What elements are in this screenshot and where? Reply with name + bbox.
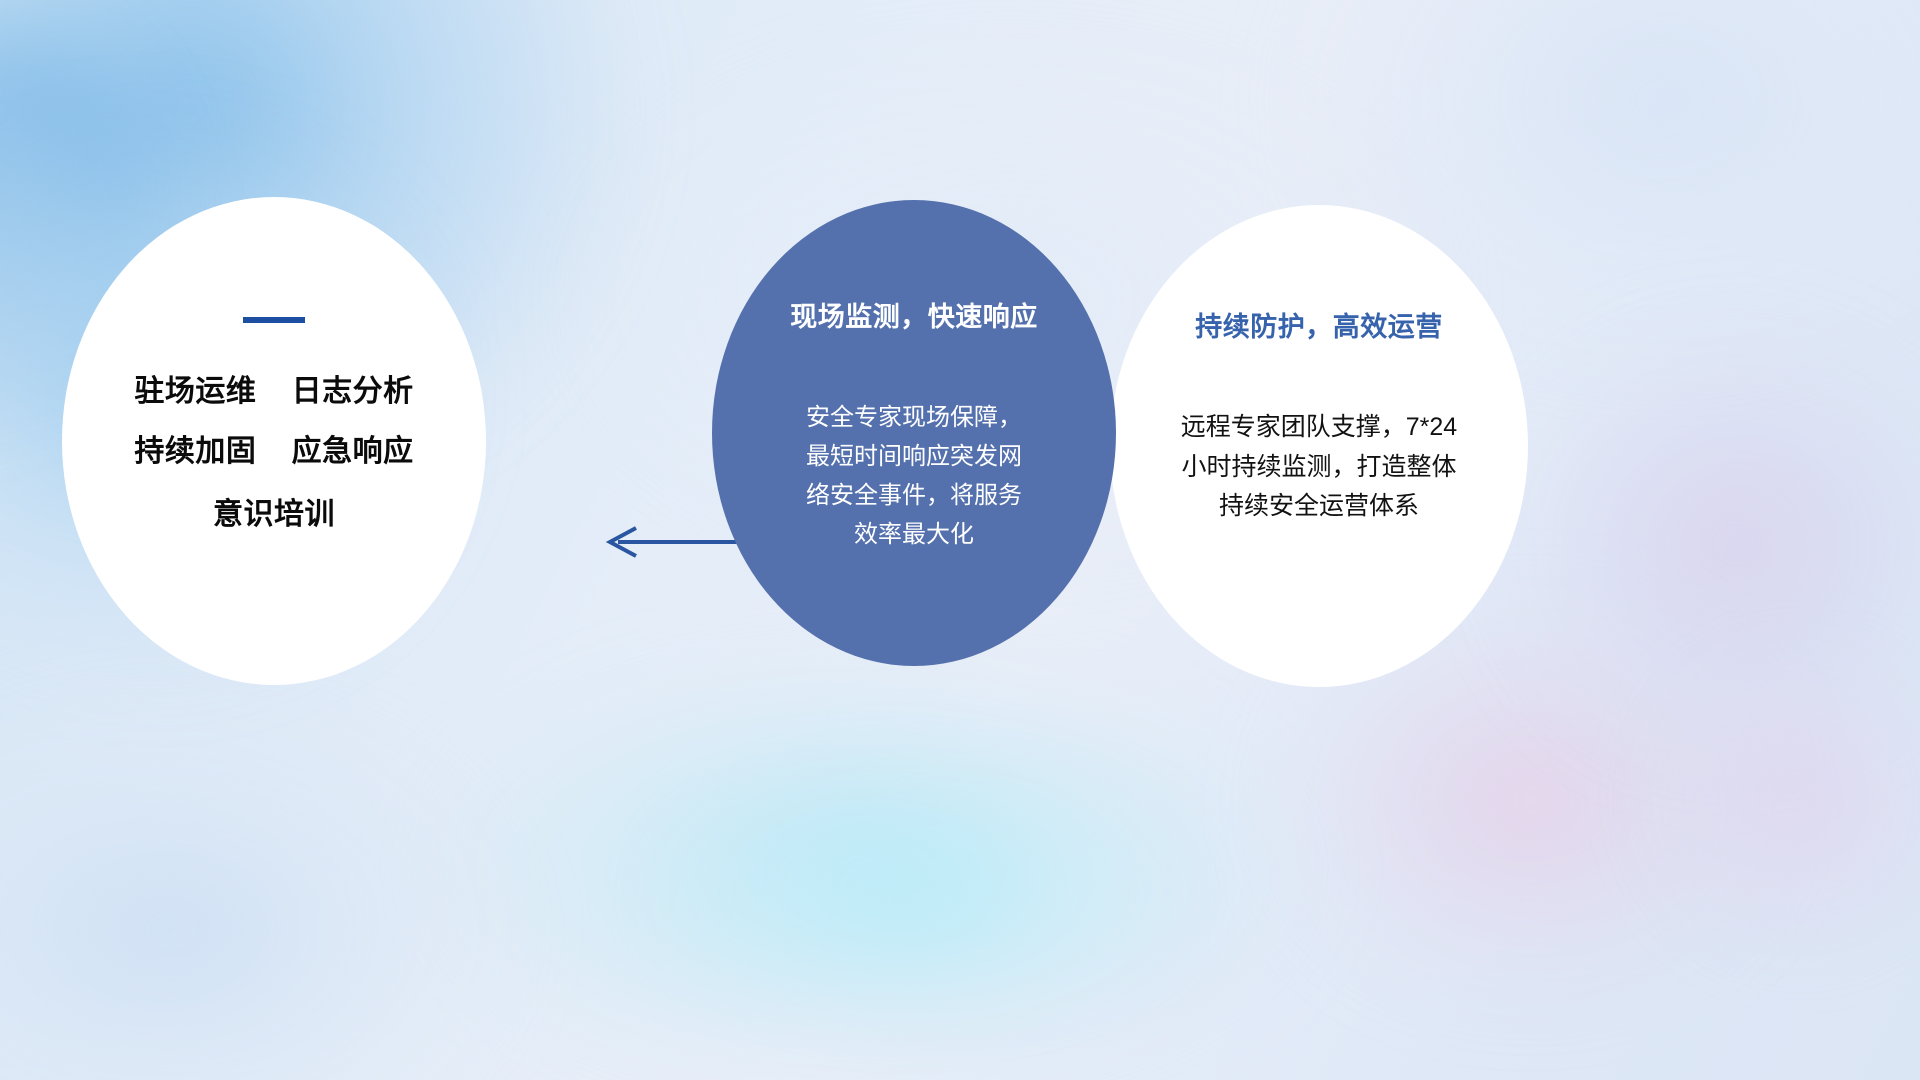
accent-dash [243, 317, 305, 323]
sidebar-item-service-capability-circle[interactable]: 驻场运维 日志分析 持续加固 应急响应 意识培训 [62, 197, 486, 685]
middle-circle-text-block: 现场监测，快速响应 安全专家现场保障， 最短时间响应突发网 络安全事件，将服务 … [712, 295, 1116, 555]
right-body-line-3: 持续安全运营体系 [1142, 487, 1496, 527]
middle-body-line-3: 络安全事件，将服务 [752, 477, 1076, 516]
left-circle-line-1: 驻场运维 日志分析 [62, 375, 486, 409]
right-circle-title: 持续防护，高效运营 [1140, 305, 1498, 344]
middle-body-line-1: 安全专家现场保障， [752, 399, 1076, 438]
left-circle-text-block: 驻场运维 日志分析 持续加固 应急响应 意识培训 [62, 375, 486, 532]
continuous-protection-circle[interactable]: 持续防护，高效运营 远程专家团队支撑，7*24 小时持续监测，打造整体 持续安全… [1110, 205, 1528, 687]
middle-circle-title: 现场监测，快速响应 [746, 295, 1082, 334]
right-circle-body: 远程专家团队支撑，7*24 小时持续监测，打造整体 持续安全运营体系 [1140, 408, 1498, 527]
right-circle-text-block: 持续防护，高效运营 远程专家团队支撑，7*24 小时持续监测，打造整体 持续安全… [1110, 305, 1528, 527]
left-circle-line-2: 持续加固 应急响应 [62, 435, 486, 469]
left-circle-line-3: 意识培训 [62, 498, 486, 532]
slide-canvas: 驻场运维 日志分析 持续加固 应急响应 意识培训 现场监测，快速响应 安全专家现… [0, 0, 1920, 1080]
middle-body-line-2: 最短时间响应突发网 [752, 438, 1076, 477]
right-body-line-1: 远程专家团队支撑，7*24 [1142, 408, 1496, 448]
left-accent-mark-wrap [62, 317, 486, 323]
middle-circle-body: 安全专家现场保障， 最短时间响应突发网 络安全事件，将服务 效率最大化 [746, 399, 1082, 555]
middle-body-line-4: 效率最大化 [752, 516, 1076, 555]
onsite-monitoring-circle[interactable]: 现场监测，快速响应 安全专家现场保障， 最短时间响应突发网 络安全事件，将服务 … [712, 200, 1116, 666]
right-body-line-2: 小时持续监测，打造整体 [1142, 448, 1496, 488]
